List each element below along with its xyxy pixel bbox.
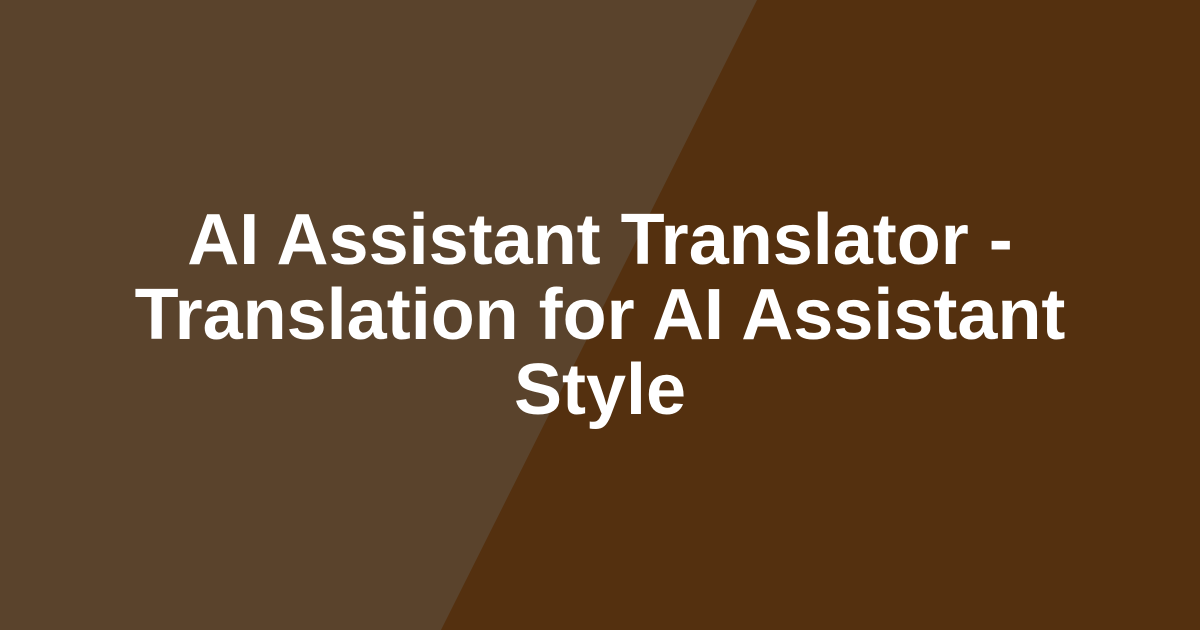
social-preview-card: AI Assistant Translator - Translation fo…: [0, 0, 1200, 630]
page-title: AI Assistant Translator - Translation fo…: [100, 203, 1100, 428]
title-block: AI Assistant Translator - Translation fo…: [0, 0, 1200, 630]
